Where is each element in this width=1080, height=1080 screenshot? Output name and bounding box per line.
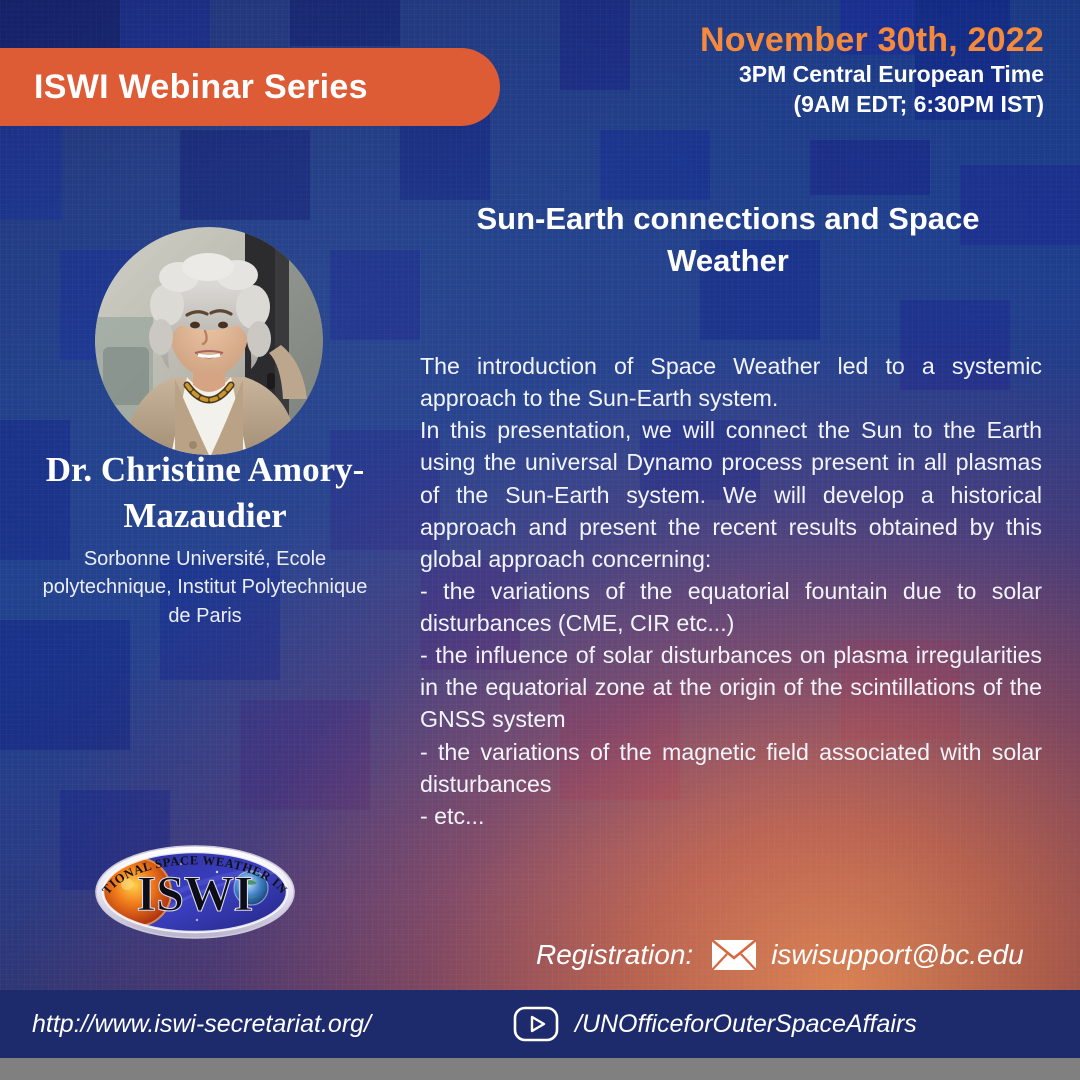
iswi-logo-wordmark: ISWI (137, 865, 254, 921)
speaker-portrait (95, 227, 323, 455)
youtube-channel-name[interactable]: /UNOfficeforOuterSpaceAffairs (575, 1010, 917, 1039)
registration-email[interactable]: iswisupport@bc.edu (771, 939, 1024, 971)
poster-canvas: ISWI Webinar Series November 30th, 2022 … (0, 0, 1080, 1080)
banner-label: ISWI Webinar Series (34, 68, 368, 107)
event-time-primary: 3PM Central European Time (564, 60, 1044, 90)
registration-row: Registration: iswisupport@bc.edu (536, 932, 1046, 978)
event-time-secondary: (9AM EDT; 6:30PM IST) (564, 90, 1044, 120)
talk-title: Sun-Earth connections and Space Weather (414, 198, 1042, 281)
iswi-logo: INTERNATIONAL SPACE WEATHER INITIATIVE I… (85, 836, 305, 940)
iswi-webinar-series-banner: ISWI Webinar Series (0, 48, 500, 126)
speaker-name: Dr. Christine Amory-Mazaudier (8, 447, 402, 538)
website-url[interactable]: http://www.iswi-secretariat.org/ (32, 1010, 371, 1039)
envelope-icon (711, 939, 757, 971)
iswi-logo-graphic: INTERNATIONAL SPACE WEATHER INITIATIVE I… (85, 836, 305, 940)
talk-abstract: The introduction of Space Weather led to… (420, 350, 1042, 832)
speaker-affiliation: Sorbonne Université, Ecole polytechnique… (30, 545, 380, 630)
event-date: November 30th, 2022 (564, 20, 1044, 60)
youtube-play-icon[interactable] (513, 1006, 559, 1042)
bottom-strip (0, 1058, 1080, 1080)
registration-label: Registration: (536, 939, 693, 971)
event-datetime-block: November 30th, 2022 3PM Central European… (564, 20, 1044, 120)
speaker-portrait-image (95, 227, 323, 455)
footer-bar: http://www.iswi-secretariat.org/ /UNOffi… (0, 990, 1080, 1058)
